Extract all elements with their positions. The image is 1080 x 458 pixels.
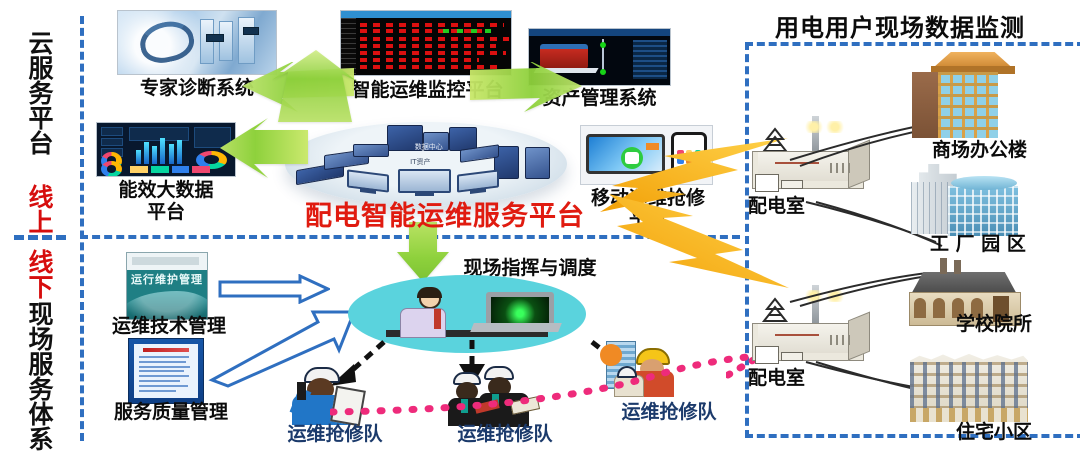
building-mall-office [912, 52, 1016, 140]
green-arrow-to-energy-bigdata [218, 118, 310, 182]
rail-label-offline: 线下 [6, 243, 52, 305]
building-residential [910, 352, 1028, 422]
rail-label-field-service: 现场服务体系 [6, 300, 52, 452]
caption-factory-park: 工 厂 园 区 [930, 234, 1060, 255]
rail-text-online: 线上 [25, 184, 54, 234]
diagram-canvas: 云服务平台 线上 线下 现场服务体系 用电用户现场数据监测 专家诊断系统 [0, 0, 1080, 458]
caption-quality-management: 服务质量管理 [100, 402, 242, 423]
disc-monitor-center [398, 169, 452, 193]
thumb-tech-management-book: 运行维护管理 [126, 252, 208, 320]
rail-text-offline: 线下 [25, 249, 54, 299]
right-panel-title: 用电用户现场数据监测 [775, 8, 1025, 43]
cloud-platform-disc: 数据中心 IT资产 [285, 122, 567, 206]
pink-dotted-route [330, 340, 760, 430]
disc-rack-right-2 [525, 147, 550, 179]
caption-energy-bigdata-line2: 平台 [86, 202, 246, 223]
thumb-energy-bigdata [96, 122, 236, 177]
caption-residential: 住宅小区 [956, 422, 1076, 443]
rail-label-online: 线上 [6, 178, 52, 240]
rail-label-cloud-platform: 云服务平台 [6, 12, 52, 172]
caption-school-institute: 学校院所 [956, 314, 1076, 335]
frame-left-vertical [80, 16, 84, 441]
rail-text-cloud-platform: 云服务平台 [25, 30, 54, 155]
command-operator-tie [434, 309, 441, 329]
disc-device-left-3 [353, 144, 390, 157]
caption-mall-office: 商场办公楼 [932, 140, 1062, 161]
green-arrow-to-asset-management [470, 62, 586, 124]
disc-label-it-assets: IT资产 [378, 157, 463, 167]
building-factory-park [906, 164, 1024, 240]
command-laptop-base [470, 323, 562, 332]
platform-title: 配电智能运维服务平台 [290, 202, 600, 232]
rail-text-field-service: 现场服务体系 [25, 301, 54, 451]
disc-monitor-right [457, 170, 499, 194]
green-arrow-to-smart-om-monitor [268, 50, 362, 124]
caption-energy-bigdata-line1: 能效大数据 [86, 180, 246, 201]
thumb-quality-management-doc [128, 338, 204, 404]
rail-divider [14, 235, 66, 240]
disc-monitor-left [347, 170, 389, 194]
command-operator-hair [417, 287, 442, 298]
